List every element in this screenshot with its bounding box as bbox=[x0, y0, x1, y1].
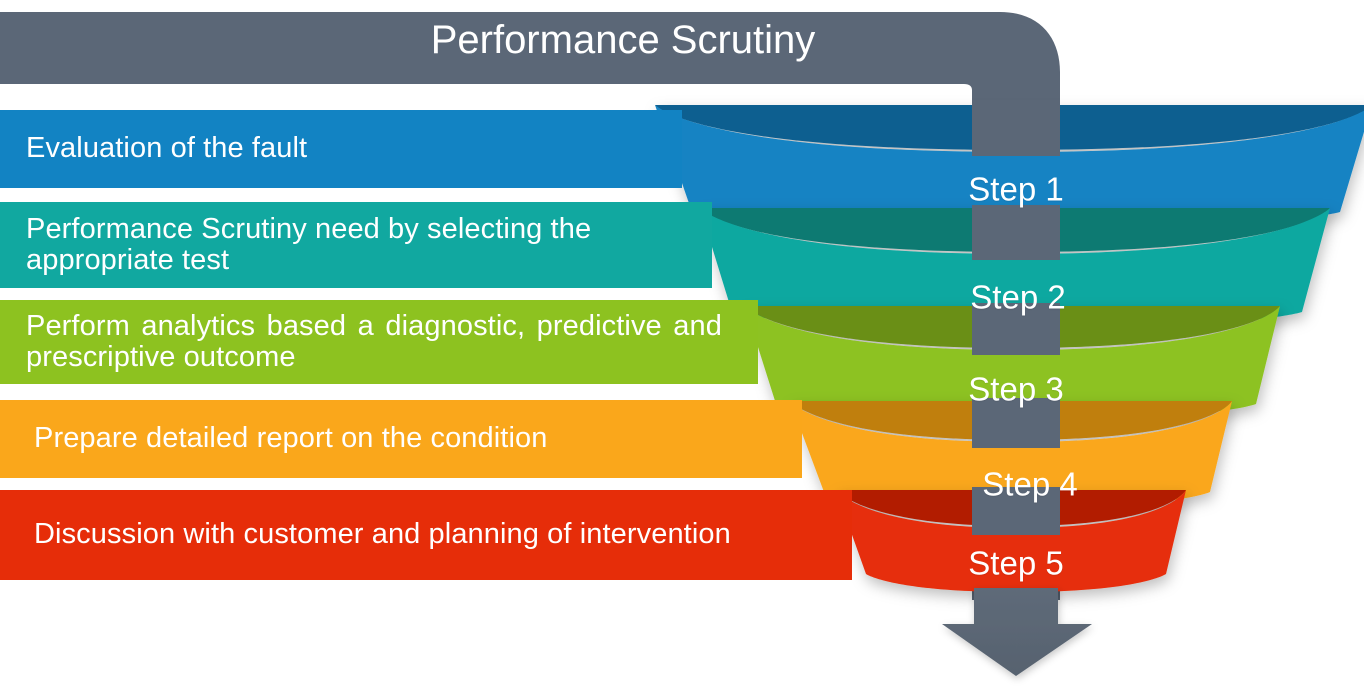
page-title: Performance Scrutiny bbox=[418, 20, 828, 60]
shaft-segment-2 bbox=[972, 205, 1060, 260]
description-text-step-5: Discussion with customer and planning of… bbox=[34, 519, 731, 550]
step-label-4: Step 4 bbox=[982, 468, 1077, 501]
description-bar-step-4: Prepare detailed report on the condition bbox=[0, 400, 802, 478]
down-arrow bbox=[942, 588, 1092, 676]
description-bar-step-1: Evaluation of the fault bbox=[0, 110, 682, 188]
description-bar-step-5: Discussion with customer and planning of… bbox=[0, 490, 852, 580]
description-text-step-3: Perform analytics based a diagnostic, pr… bbox=[26, 311, 722, 374]
description-text-step-1: Evaluation of the fault bbox=[26, 133, 307, 164]
step-label-2: Step 2 bbox=[970, 281, 1065, 314]
step-label-3: Step 3 bbox=[968, 373, 1063, 406]
funnel-diagram: Performance Scrutiny Evaluation of the f… bbox=[0, 0, 1364, 689]
description-bar-step-3: Perform analytics based a diagnostic, pr… bbox=[0, 300, 758, 384]
description-bar-step-2: Performance Scrutiny need by selecting t… bbox=[0, 202, 712, 288]
description-text-step-2: Performance Scrutiny need by selecting t… bbox=[26, 214, 702, 277]
down-arrow-shape bbox=[942, 588, 1092, 676]
step-label-5: Step 5 bbox=[968, 547, 1063, 580]
step-label-1: Step 1 bbox=[968, 173, 1063, 206]
shaft-segment-1 bbox=[972, 100, 1060, 156]
description-text-step-4: Prepare detailed report on the condition bbox=[34, 423, 547, 454]
